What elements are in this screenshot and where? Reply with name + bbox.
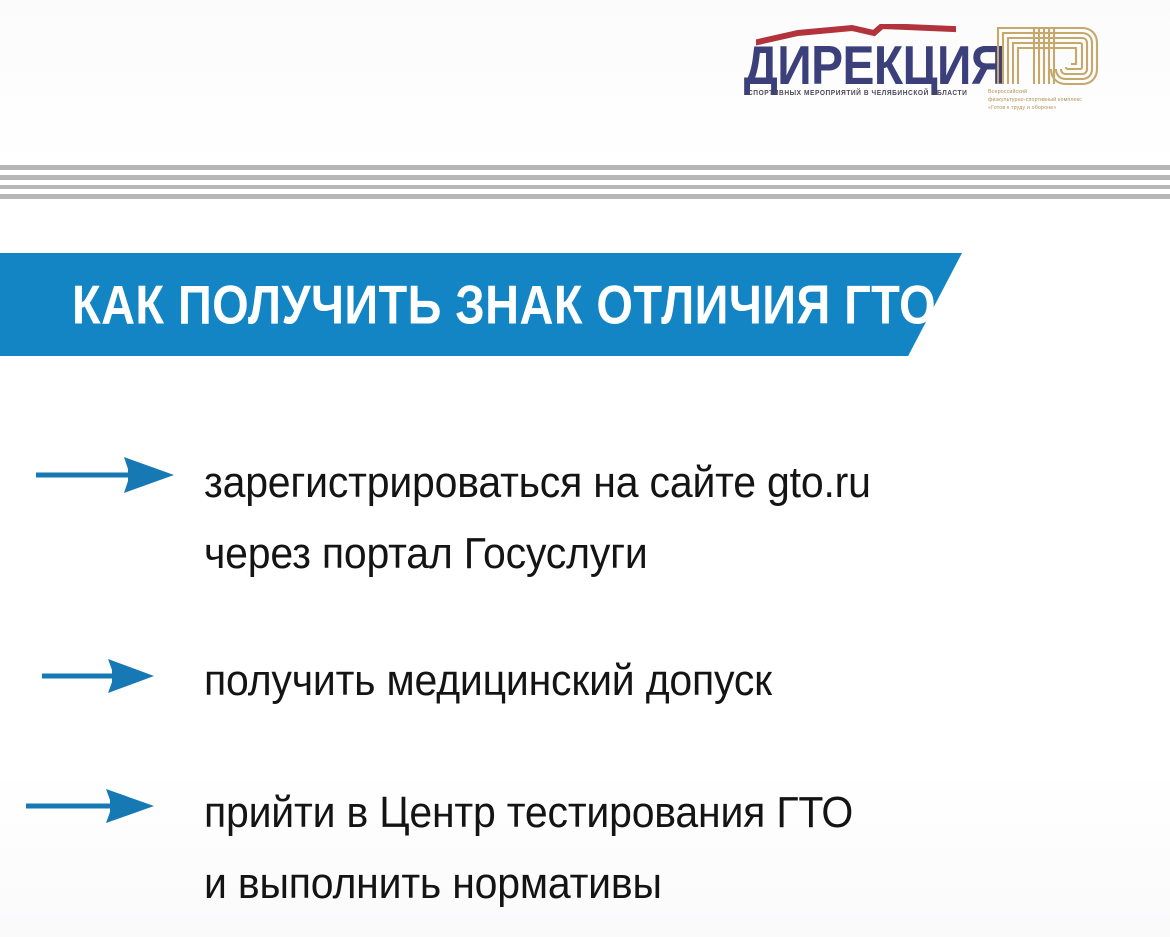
step-1-line-2: через портал Госуслуги bbox=[204, 518, 871, 589]
arrow-right-icon bbox=[42, 657, 156, 695]
step-1-line-1: зарегистрироваться на сайте gto.ru bbox=[204, 447, 871, 518]
step-2-line-1: получить медицинский допуск bbox=[204, 645, 772, 716]
poster-root: ДИРЕКЦИЯ СПОРТИВНЫХ МЕРОПРИЯТИЙ В ЧЕЛЯБИ… bbox=[0, 0, 1170, 937]
step-3-line-2: и выполнить нормативы bbox=[204, 848, 853, 919]
step-2-text: получить медицинский допуск bbox=[204, 645, 772, 716]
arrow-right-icon bbox=[26, 787, 156, 825]
step-3-text: прийти в Центр тестирования ГТО и выполн… bbox=[204, 777, 853, 919]
steps-list: зарегистрироваться на сайте gto.ru через… bbox=[0, 0, 1170, 937]
step-1-text: зарегистрироваться на сайте gto.ru через… bbox=[204, 447, 871, 589]
step-3-line-1: прийти в Центр тестирования ГТО bbox=[204, 777, 853, 848]
arrow-right-icon bbox=[36, 455, 176, 495]
